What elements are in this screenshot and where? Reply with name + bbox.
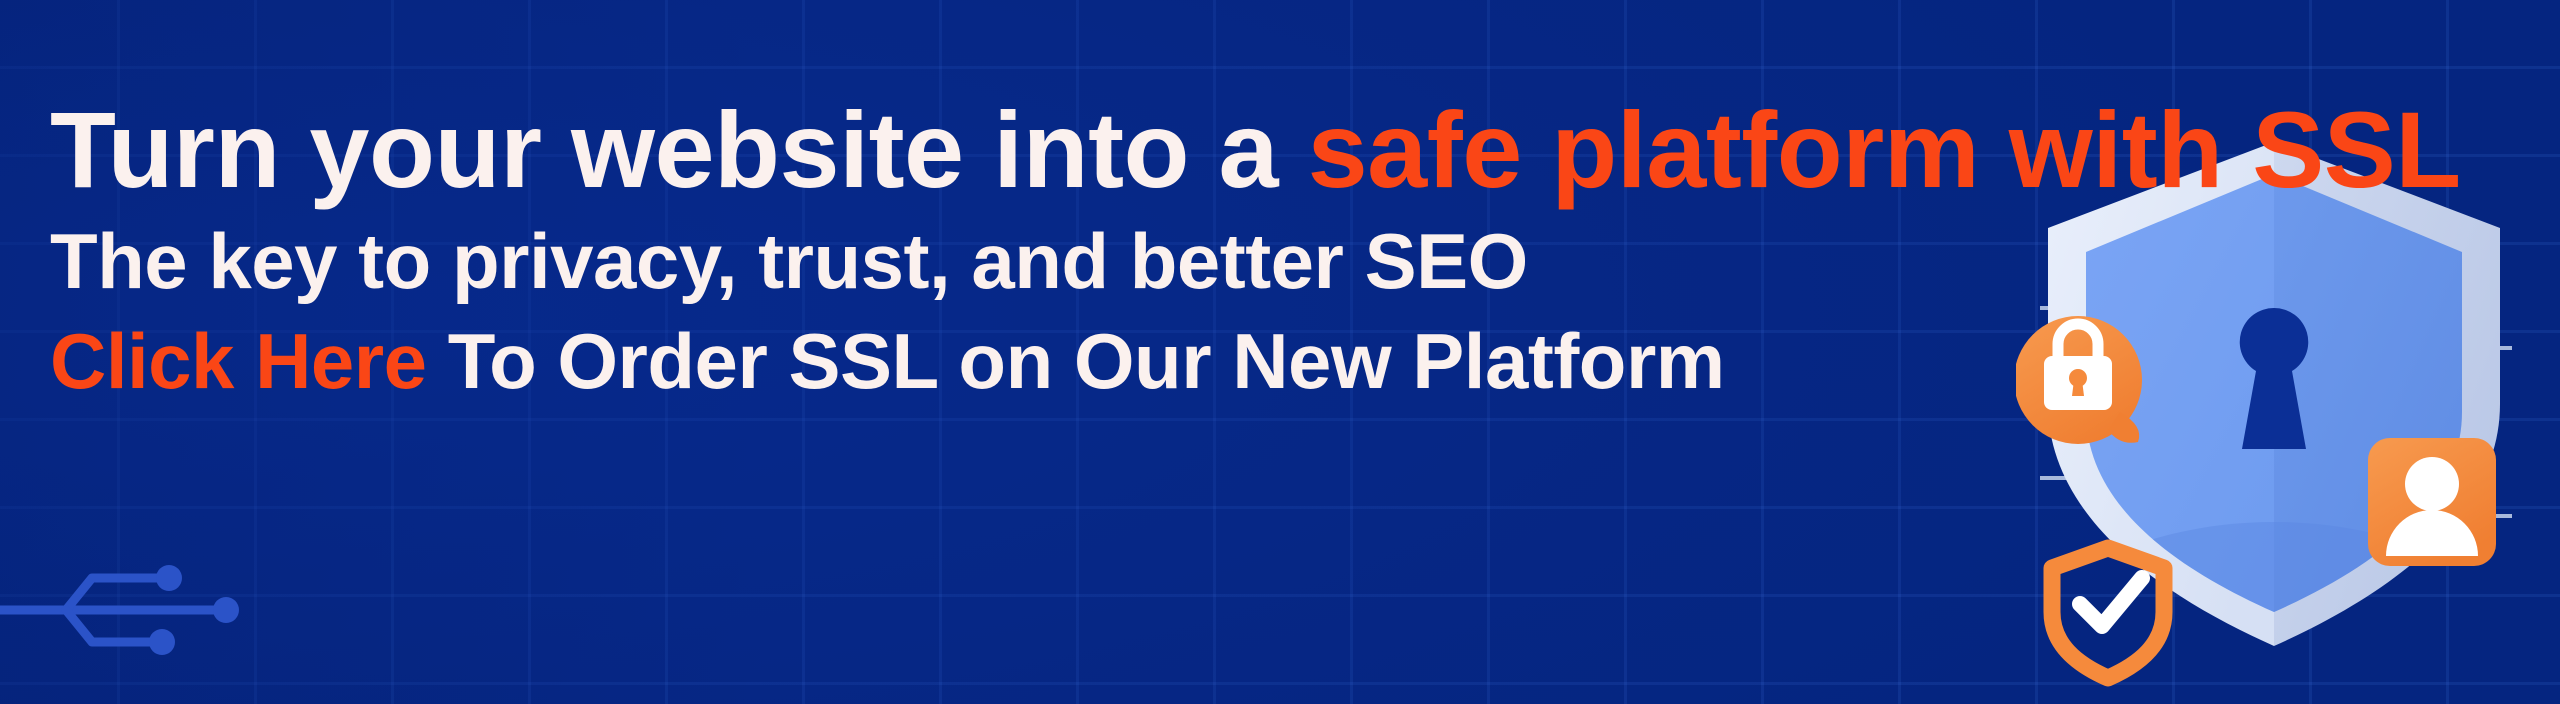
cta-rest-text: To Order SSL on Our New Platform [427, 317, 1725, 405]
user-badge [2368, 438, 2496, 566]
headline-white-part: Turn your website into a [50, 89, 1308, 210]
check-icon [2080, 578, 2142, 626]
headline: Turn your website into a safe platform w… [50, 96, 2461, 204]
shield-check-badge [2052, 548, 2164, 678]
banner-copy: Turn your website into a safe platform w… [50, 96, 2461, 400]
headline-orange-part: safe platform with SSL [1308, 89, 2461, 210]
circuit-lines-decoration [0, 548, 300, 668]
subheadline: The key to privacy, trust, and better SE… [50, 222, 2461, 300]
cta-line: Click Here To Order SSL on Our New Platf… [50, 322, 2461, 400]
click-here-link[interactable]: Click Here [50, 317, 427, 405]
ssl-promo-banner: Turn your website into a safe platform w… [0, 0, 2560, 704]
